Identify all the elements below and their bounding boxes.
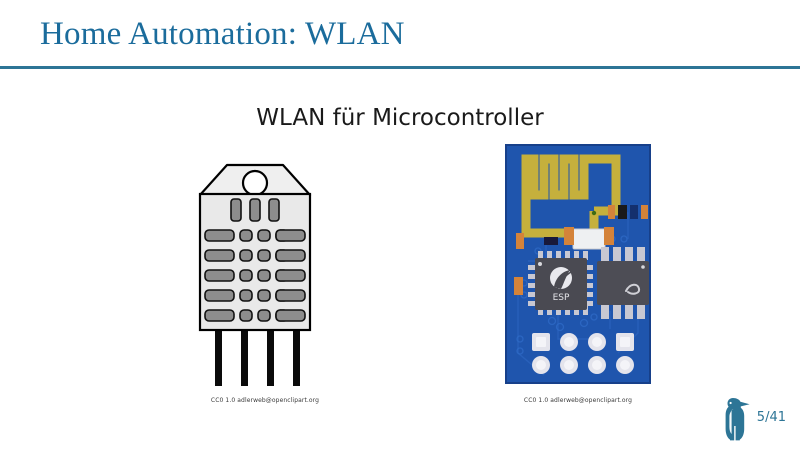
dht22-sensor-illustration bbox=[190, 160, 340, 392]
esp-chip: ESP bbox=[528, 251, 593, 315]
crystal-pad-left bbox=[564, 227, 574, 245]
figure-caption-dht22: CC0 1.0 adlerweb@openclipart.org bbox=[190, 396, 340, 405]
smd-resistor-2 bbox=[516, 233, 524, 249]
crystal-pad-right bbox=[604, 227, 614, 245]
penguin-logo bbox=[721, 396, 751, 442]
smd-resistor-3 bbox=[514, 277, 523, 295]
antenna-feed-point bbox=[592, 211, 596, 215]
sensor-mounting-hole bbox=[243, 171, 267, 195]
slide-subtitle: WLAN für Microcontroller bbox=[0, 103, 800, 133]
figure-caption-esp8266: CC0 1.0 adlerweb@openclipart.org bbox=[498, 396, 658, 405]
page-title: Home Automation: WLAN bbox=[40, 14, 405, 54]
sensor-pins bbox=[215, 328, 300, 386]
chip-pin1-dot bbox=[538, 262, 542, 266]
esp8266-module-illustration: ESP bbox=[498, 143, 658, 391]
sensor-vent-top bbox=[231, 199, 279, 221]
figure-esp8266-module: ESP bbox=[498, 143, 658, 405]
smd-resistor-1 bbox=[544, 237, 558, 245]
figure-dht22-sensor: CC0 1.0 adlerweb@openclipart.org bbox=[190, 160, 340, 405]
crystal-oscillator bbox=[573, 229, 605, 249]
page-number: 5/41 bbox=[757, 410, 786, 428]
slide: Home Automation: WLAN WLAN für Microcont… bbox=[0, 0, 800, 449]
flash-pin1-dot bbox=[641, 265, 645, 269]
title-divider bbox=[0, 66, 800, 69]
slide-footer: 5/41 bbox=[721, 395, 786, 443]
chip-label: ESP bbox=[553, 293, 570, 303]
